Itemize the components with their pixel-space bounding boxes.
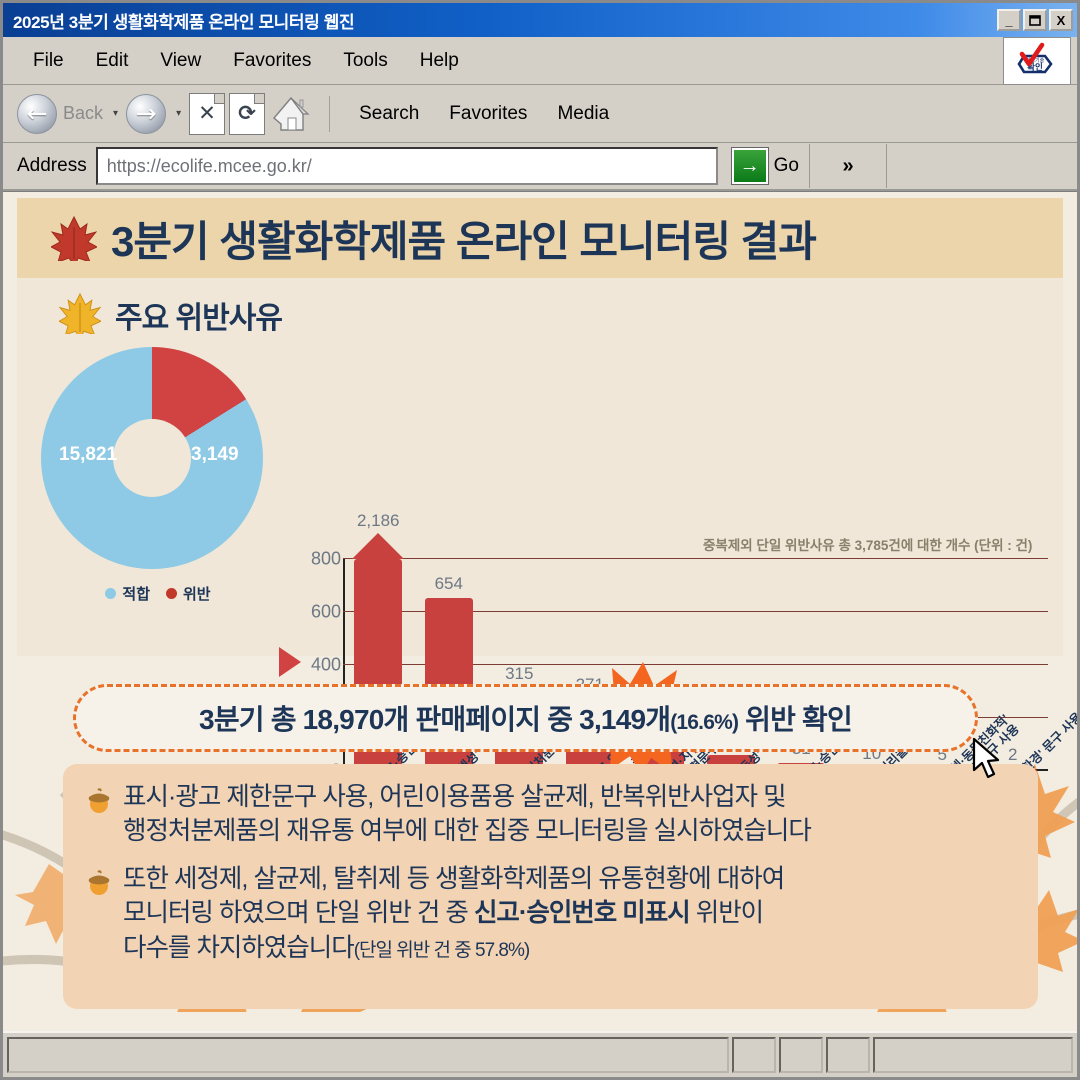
maple-leaf-yellow-svg [59,292,101,334]
maximize-button[interactable] [1023,9,1047,31]
status-pane-2 [732,1037,776,1073]
status-pane-3 [779,1037,823,1073]
donut-legend: 적합 위반 [53,583,263,604]
note2-line3b: (단일 위반 건 중 57.8%) [354,940,530,961]
browser-window: 2025년 3분기 생활화학제품 온라인 모니터링 웹진 _ X File Ed… [0,0,1080,1080]
menu-favorites[interactable]: Favorites [221,46,323,76]
page-title: 3분기 생활화학제품 온라인 모니터링 결과 [111,208,816,269]
title-bar: 2025년 3분기 생활화학제품 온라인 모니터링 웹진 _ X [3,3,1077,37]
callout-highlight: 3,149개 [579,704,670,735]
close-button[interactable]: X [1049,9,1073,31]
bar-value-label: 654 [435,574,463,594]
menu-bar: File Edit View Favorites Tools Help 환경기술… [3,37,1077,85]
donut-chart: 15,821 3,149 적합 위반 [23,347,303,607]
note2-line3a: 다수를 차지하였습니다 [123,934,354,962]
address-bar-filler [887,144,1077,188]
section-title: 주요 위반사유 [115,293,282,337]
maple-leaf-yellow-icon [59,292,105,338]
chart-note: 중복제외 단일 위반사유 총 3,785건에 대한 개수 (단위 : 건) [703,534,1032,554]
back-arrow-icon: ← [17,94,57,134]
go-label: Go [774,155,799,177]
y-tick-label: 800 [303,549,341,570]
back-arrow-glyph: ← [27,101,48,126]
toolbar-separator [329,96,330,132]
callout-part1: 3분기 총 18,970개 판매페이지 중 [199,704,579,735]
note-item: 또한 세정제, 살균제, 탈취제 등 생활화학제품의 유통현황에 대하여 모니터… [85,862,1012,964]
y-tick-label: 600 [303,602,341,623]
forward-arrow-icon: → [126,94,166,134]
toolbar-overflow-button[interactable]: » [809,144,887,188]
address-label: Address [3,155,96,177]
toolbar-search[interactable]: Search [346,103,432,125]
forward-dropdown-caret-icon[interactable]: ▾ [176,108,181,119]
callout-text: 3분기 총 18,970개 판매페이지 중 3,149개(16.6%) 위반 확… [199,698,852,738]
status-text [7,1037,729,1073]
y-tick-label: 400 [303,655,341,676]
toolbar-favorites[interactable]: Favorites [436,103,540,125]
legend-dot-compliant-icon [105,588,116,599]
address-input[interactable]: https://ecolife.mcee.go.kr/ [96,147,718,185]
menu-view[interactable]: View [148,46,213,76]
minimize-button[interactable]: _ [997,9,1021,31]
legend-item-violation: 위반 [166,583,211,604]
page-banner: 3분기 생활화학제품 온라인 모니터링 결과 [17,198,1063,278]
donut-label-violation: 3,149 [191,444,239,466]
page-content: 3분기 생활화학제품 온라인 모니터링 결과 주요 위반사유 15,821 3,… [3,191,1077,1031]
go-button[interactable]: → Go [722,148,809,184]
legend-item-compliant: 적합 [105,583,150,604]
description-box: 표시·광고 제한문구 사용, 어린이용품용 살균제, 반복위반사업자 및 행정처… [63,764,1038,1009]
note-text: 또한 세정제, 살균제, 탈취제 등 생활화학제품의 유통현황에 대하여 모니터… [123,862,784,964]
maple-leaf-red-svg [51,215,97,261]
donut-ring: 15,821 3,149 [41,347,263,569]
pointer-triangle-icon [279,647,301,677]
navigation-toolbar: ← Back ▾ → ▾ ✕ ⟳ Search Favorites Media [3,85,1077,143]
maple-leaf-red-icon [51,215,97,261]
callout-percent: (16.6%) [670,711,738,734]
menu-help[interactable]: Help [408,46,471,76]
note2-line1: 또한 세정제, 살균제, 탈취제 등 생활화학제품의 유통현황에 대하여 [123,862,784,896]
note2-line2: 모니터링 하였으며 단일 위반 건 중 신고·승인번호 미표시 위반이 [123,896,784,930]
acorn-svg [85,868,113,896]
menu-file[interactable]: File [21,46,76,76]
bar-overflow-arrow-icon [352,533,404,559]
address-bar: Address https://ecolife.mcee.go.kr/ → Go… [3,143,1077,191]
note2-emphasis: 신고·승인번호 미표시 [474,899,690,927]
maximize-icon [1029,15,1041,26]
note1-line2: 행정처분제품의 재유통 여부에 대한 집중 모니터링을 실시하였습니다 [123,814,811,848]
toolbar-media[interactable]: Media [544,103,622,125]
back-button[interactable]: ← Back ▾ [17,94,122,134]
forward-arrow-glyph: → [136,101,157,126]
bar-value-label: 315 [505,664,533,684]
acorn-bullet-icon [85,868,113,896]
back-label: Back [63,103,103,124]
stop-button[interactable]: ✕ [189,93,225,135]
status-bar [3,1031,1077,1077]
bar-value-label: 2 [1008,745,1017,765]
window-title: 2025년 3분기 생활화학제품 온라인 모니터링 웹진 [13,8,997,33]
menu-items: File Edit View Favorites Tools Help [3,46,1003,76]
note1-line1: 표시·광고 제한문구 사용, 어린이용품용 살균제, 반복위반사업자 및 [123,780,811,814]
note2-line2c: 위반이 [690,899,763,927]
acorn-svg [85,786,113,814]
section-heading: 주요 위반사유 [59,292,282,338]
donut-label-compliant: 15,821 [59,444,117,466]
status-zone-pane [873,1037,1073,1073]
cert-seal-icon: 환경기술 확인 [1011,42,1063,80]
acorn-bullet-icon [85,786,113,814]
status-pane-4 [826,1037,870,1073]
home-button[interactable] [269,94,313,134]
certification-badge-icon: 환경기술 확인 [1003,37,1071,85]
bar-value-label: 2,186 [357,511,400,531]
legend-dot-violation-icon [166,588,177,599]
note-text: 표시·광고 제한문구 사용, 어린이용품용 살균제, 반복위반사업자 및 행정처… [123,780,811,848]
note-item: 표시·광고 제한문구 사용, 어린이용품용 살균제, 반복위반사업자 및 행정처… [85,780,1012,848]
menu-edit[interactable]: Edit [84,46,141,76]
mouse-cursor-icon [971,737,1005,781]
legend-label-compliant: 적합 [122,583,150,604]
callout-part2: 위반 확인 [738,704,852,735]
window-controls: _ X [997,9,1073,31]
forward-button[interactable]: → ▾ [126,94,185,134]
menu-tools[interactable]: Tools [331,46,399,76]
refresh-button[interactable]: ⟳ [229,93,265,135]
legend-label-violation: 위반 [183,583,211,604]
note2-line3: 다수를 차지하였습니다(단일 위반 건 중 57.8%) [123,931,784,965]
back-dropdown-caret-icon[interactable]: ▾ [113,108,118,119]
home-icon [269,94,313,134]
summary-callout: 3분기 총 18,970개 판매페이지 중 3,149개(16.6%) 위반 확… [73,684,978,752]
go-arrow-icon: → [732,148,768,184]
cursor-svg [971,737,1005,781]
donut-hole [113,419,191,497]
note2-line2a: 모니터링 하였으며 단일 위반 건 중 [123,899,474,927]
